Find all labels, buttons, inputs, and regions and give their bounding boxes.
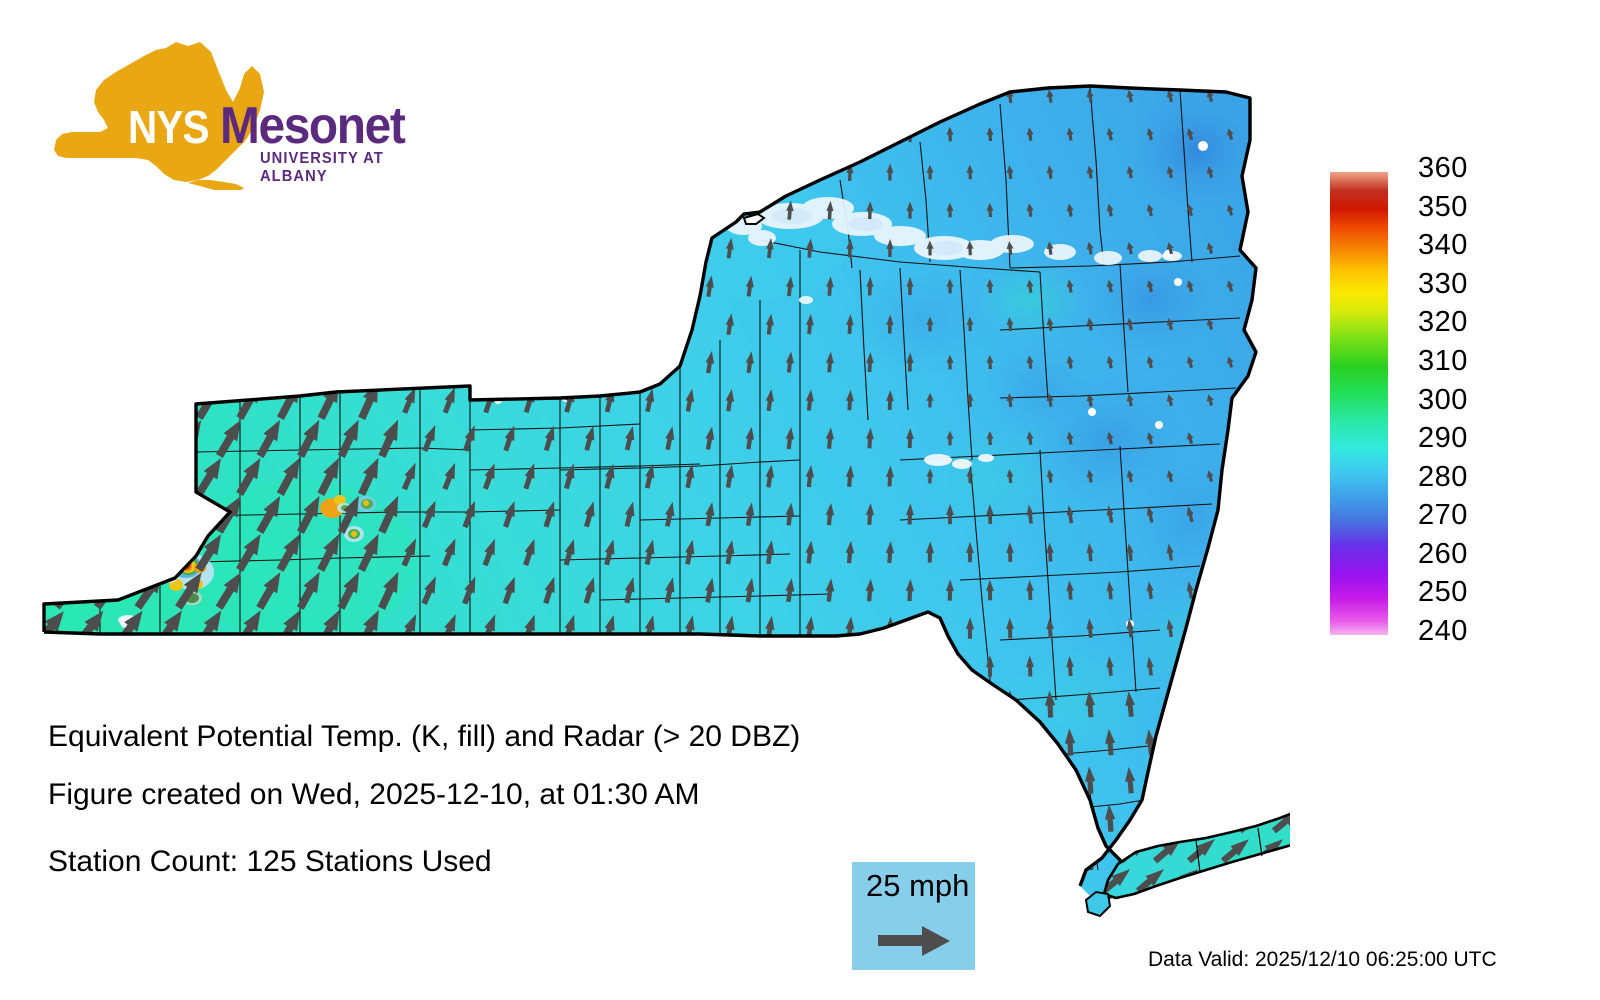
wind-arrow xyxy=(435,911,465,953)
wind-arrow xyxy=(644,85,655,106)
wind-arrow xyxy=(415,873,445,915)
wind-arrow xyxy=(720,913,741,950)
wind-arrow xyxy=(802,763,819,796)
wind-arrow xyxy=(924,689,936,718)
wind-arrow xyxy=(481,310,498,337)
wind-arrow xyxy=(1004,841,1015,871)
wind-arrow xyxy=(132,264,169,308)
wind-arrow xyxy=(1224,505,1235,522)
wind-arrow xyxy=(685,161,696,182)
wind-arrow xyxy=(422,121,439,147)
wind-arrow xyxy=(822,726,838,758)
wind-arrow xyxy=(557,912,583,952)
wind-arrow xyxy=(1223,805,1237,832)
wind-arrow xyxy=(461,272,479,299)
wind-arrow xyxy=(274,74,306,118)
wind-arrow xyxy=(1117,894,1151,926)
wind-arrow xyxy=(599,686,621,723)
wind-arrow xyxy=(51,188,90,233)
wind-arrow xyxy=(459,650,481,682)
wind-arrow xyxy=(500,650,521,681)
wind-arrow xyxy=(964,765,976,795)
wind-arrow xyxy=(702,652,717,680)
wind-arrow xyxy=(761,838,780,873)
wind-arrow xyxy=(109,909,151,956)
wind-arrow xyxy=(925,617,934,639)
wind-arrow xyxy=(786,125,794,144)
wind-arrow xyxy=(71,74,109,119)
wind-arrow xyxy=(396,684,425,724)
wind-arrow xyxy=(190,908,231,956)
wind-arrow xyxy=(824,653,836,678)
wind-arrow xyxy=(866,125,873,142)
wind-arrow xyxy=(598,912,623,952)
wind-arrow xyxy=(91,264,129,309)
wind-arrow xyxy=(31,74,70,119)
wind-arrow xyxy=(1024,728,1035,756)
wind-arrow xyxy=(477,685,503,724)
wind-arrow xyxy=(577,874,602,913)
wind-arrow xyxy=(1245,166,1255,179)
thetae-fill-layer xyxy=(0,0,1290,960)
wind-arrow xyxy=(537,874,563,914)
wind-arrow xyxy=(761,687,778,720)
wind-arrow xyxy=(30,150,69,195)
wind-arrow xyxy=(700,800,720,836)
wind-arrow xyxy=(355,150,385,193)
wind-arrow xyxy=(583,198,597,222)
wind-arrow xyxy=(581,651,599,681)
wind-arrow xyxy=(1144,804,1157,832)
wind-arrow xyxy=(274,302,307,346)
wind-arrow xyxy=(503,122,518,146)
wind-arrow xyxy=(28,909,72,955)
wind-arrow xyxy=(476,911,505,953)
wind-arrow xyxy=(193,74,227,118)
wind-arrow xyxy=(254,188,287,232)
wind-arrow xyxy=(1243,918,1257,946)
wind-arrow xyxy=(806,163,814,182)
wind-arrow xyxy=(1223,880,1237,908)
wind-arrow xyxy=(30,530,70,574)
wind-arrow xyxy=(1245,543,1255,560)
wind-arrow xyxy=(766,87,775,106)
wind-arrow xyxy=(314,302,345,345)
wind-arrow xyxy=(584,123,597,146)
colorbar-tick-250: 250 xyxy=(1418,576,1468,609)
wind-arrow xyxy=(172,264,207,308)
wind-arrow xyxy=(172,492,208,536)
wind-arrow xyxy=(821,877,838,911)
wind-arrow xyxy=(564,85,577,108)
wind-arrow xyxy=(131,416,168,460)
wind-arrow xyxy=(1124,917,1137,946)
wind-arrow xyxy=(846,87,853,104)
wind-arrow xyxy=(1005,766,1016,795)
wind-arrow xyxy=(883,764,897,795)
wind-arrow xyxy=(842,764,857,796)
wind-arrow xyxy=(253,264,286,308)
wind-arrow xyxy=(213,112,247,156)
wind-arrow xyxy=(638,913,661,952)
wind-arrow xyxy=(294,112,325,156)
wind-arrow xyxy=(71,302,109,347)
wind-speed-legend: 25 mph xyxy=(852,862,975,970)
wind-arrow xyxy=(173,112,208,156)
wind-arrow xyxy=(1245,242,1255,255)
wind-arrow xyxy=(522,311,538,338)
wind-arrow xyxy=(984,728,995,757)
wind-arrow xyxy=(375,189,404,232)
colorbar-tick-340: 340 xyxy=(1418,229,1468,262)
wind-arrow xyxy=(132,112,168,157)
wind-arrow xyxy=(1004,917,1016,948)
wind-arrow xyxy=(91,492,129,536)
weather-map xyxy=(0,0,1290,960)
colorbar-tick-280: 280 xyxy=(1418,461,1468,494)
wind-arrow xyxy=(1203,918,1217,946)
wind-arrow xyxy=(583,274,597,299)
wind-arrow xyxy=(30,378,70,422)
wind-arrow xyxy=(984,803,996,833)
wind-arrow xyxy=(523,160,538,185)
wind-arrow xyxy=(91,188,128,233)
wind-arrow xyxy=(765,162,774,182)
wind-arrow xyxy=(623,349,637,374)
wind-arrow xyxy=(375,265,405,308)
wind-arrow xyxy=(152,378,188,422)
wind-arrow xyxy=(903,727,916,757)
wind-arrow xyxy=(1185,656,1195,675)
wind-arrow xyxy=(462,121,478,146)
wind-arrow xyxy=(502,273,518,299)
wind-arrow xyxy=(784,653,797,679)
wind-arrow xyxy=(621,651,638,680)
wind-arrow xyxy=(193,226,228,270)
wind-arrow xyxy=(801,914,819,949)
wind-arrow xyxy=(1185,774,1219,806)
wind-arrow xyxy=(563,160,577,184)
wind-arrow xyxy=(91,416,129,460)
wind-arrow xyxy=(1253,894,1287,926)
colorbar-tick-300: 300 xyxy=(1418,384,1468,417)
wind-arrow xyxy=(30,302,70,347)
wind-arrow xyxy=(233,302,267,346)
wind-arrow xyxy=(883,689,896,719)
wind-arrow xyxy=(355,74,384,117)
wind-arrow xyxy=(315,150,346,194)
wind-arrow xyxy=(801,839,818,873)
wind-arrow xyxy=(664,274,676,297)
wind-arrow xyxy=(50,492,90,536)
colorbar-tick-330: 330 xyxy=(1418,268,1468,301)
wind-arrow xyxy=(862,802,877,834)
wind-arrow xyxy=(462,197,479,223)
wind-arrow xyxy=(314,226,345,269)
wind-arrow xyxy=(172,188,207,232)
wind-arrow xyxy=(760,914,779,950)
wind-arrow xyxy=(131,492,168,536)
wind-arrow xyxy=(70,530,109,574)
wind-arrow xyxy=(1163,918,1176,947)
wind-arrow xyxy=(1044,766,1056,794)
wind-arrow xyxy=(71,226,109,271)
wind-arrow xyxy=(1243,767,1257,793)
wind-arrow xyxy=(662,652,678,680)
wind-arrow xyxy=(1203,691,1216,717)
wind-arrow xyxy=(1024,879,1035,909)
wind-arrow xyxy=(30,454,70,498)
wind-arrow xyxy=(1024,804,1035,833)
wind-arrow xyxy=(442,83,458,108)
wind-arrow xyxy=(966,89,974,104)
wind-arrow xyxy=(582,349,597,375)
wind-arrow xyxy=(233,150,266,194)
wind-arrow xyxy=(741,800,760,835)
wind-arrow xyxy=(886,88,893,104)
wind-arrow xyxy=(781,876,799,911)
wind-arrow xyxy=(172,644,209,688)
wind-arrow xyxy=(822,801,838,834)
wind-arrow xyxy=(394,911,426,954)
wind-arrow xyxy=(192,302,227,346)
wind-arrow xyxy=(71,454,110,498)
wind-arrow xyxy=(91,340,129,384)
wind-arrow xyxy=(501,348,518,375)
wind-arrow xyxy=(294,264,326,308)
wind-arrow xyxy=(743,653,757,680)
wind-arrow xyxy=(71,150,109,195)
wind-arrow xyxy=(540,651,560,682)
wind-arrow xyxy=(335,188,365,231)
wind-arrow xyxy=(1185,894,1219,926)
wind-arrow xyxy=(294,340,326,384)
map-title-caption: Equivalent Potential Temp. (K, fill) and… xyxy=(48,720,800,754)
wind-arrow xyxy=(271,908,310,956)
wind-arrow xyxy=(50,340,89,385)
colorbar-tick-360: 360 xyxy=(1418,152,1468,185)
colorbar xyxy=(1330,172,1388,635)
wind-arrow xyxy=(253,644,288,688)
wind-arrow xyxy=(420,348,439,377)
wind-arrow xyxy=(1084,917,1096,947)
wind-arrow xyxy=(557,836,582,875)
wind-arrow xyxy=(745,124,754,144)
colorbar-gradient xyxy=(1330,172,1388,635)
wind-arrow xyxy=(442,159,459,185)
wind-arrow xyxy=(1205,619,1215,637)
wind-arrow xyxy=(684,237,696,259)
wind-arrow xyxy=(132,188,168,233)
colorbar-tick-350: 350 xyxy=(1418,191,1468,224)
wind-arrow xyxy=(705,124,715,145)
wind-arrow xyxy=(644,236,657,259)
wind-arrow xyxy=(1151,894,1185,926)
wind-arrow xyxy=(293,644,326,687)
wind-arrow xyxy=(152,150,188,195)
wind-arrow xyxy=(517,836,544,876)
wind-arrow xyxy=(1183,804,1196,831)
wind-arrow xyxy=(274,226,306,270)
wind-arrow xyxy=(721,687,739,721)
wind-arrow xyxy=(418,650,441,683)
wind-arrow xyxy=(483,84,498,108)
wind-arrow xyxy=(212,644,248,688)
wind-arrow xyxy=(1044,841,1056,870)
wind-arrow xyxy=(640,686,661,722)
wind-arrow xyxy=(518,685,543,723)
wind-arrow xyxy=(863,726,877,757)
wind-arrow xyxy=(152,454,189,498)
wind-arrow xyxy=(664,199,676,221)
map-canvas xyxy=(0,0,1290,960)
wind-arrow xyxy=(563,236,577,261)
wind-arrow xyxy=(945,655,954,677)
wind-arrow xyxy=(923,765,936,796)
wind-arrow xyxy=(826,125,834,143)
wind-arrow xyxy=(111,226,148,271)
wind-arrow xyxy=(51,112,89,157)
wind-arrow xyxy=(781,801,799,835)
wind-arrow xyxy=(639,837,662,875)
wind-arrow xyxy=(624,123,636,145)
wind-arrow xyxy=(558,685,581,722)
wind-arrow xyxy=(193,150,227,194)
wind-arrow xyxy=(1064,879,1076,908)
wind-arrow xyxy=(482,235,499,261)
wind-arrow xyxy=(334,340,365,383)
wind-arrow xyxy=(311,908,349,957)
wind-arrow xyxy=(375,645,406,688)
wind-arrow xyxy=(213,188,247,232)
wind-arrow xyxy=(230,908,270,956)
wind-arrow xyxy=(315,74,346,118)
wind-arrow xyxy=(111,302,148,346)
wind-arrow xyxy=(132,340,169,384)
wind-arrow xyxy=(865,654,876,678)
wind-arrow xyxy=(1270,864,1290,896)
colorbar-tick-320: 320 xyxy=(1418,306,1468,339)
wind-arrow xyxy=(1164,766,1177,793)
wind-arrow xyxy=(542,273,557,299)
wind-arrow xyxy=(1225,581,1235,599)
wind-arrow xyxy=(659,875,681,913)
wind-arrow xyxy=(725,86,734,106)
wind-arrow xyxy=(685,86,695,106)
wind-arrow xyxy=(112,74,149,119)
wind-arrow xyxy=(1245,470,1255,483)
wind-arrow xyxy=(461,348,479,376)
wind-arrow xyxy=(172,340,208,384)
wind-arrow xyxy=(598,837,622,876)
wind-arrow xyxy=(400,310,420,339)
wind-arrow xyxy=(725,162,735,183)
wind-arrow xyxy=(618,875,642,914)
wind-arrow xyxy=(1168,804,1202,836)
colorbar-tick-290: 290 xyxy=(1418,422,1468,455)
wind-arrow xyxy=(71,378,110,422)
wind-arrow xyxy=(50,416,89,460)
wind-arrow xyxy=(1064,804,1076,833)
figure-created-caption: Figure created on Wed, 2025-12-10, at 01… xyxy=(48,778,700,812)
wind-arrow xyxy=(643,312,656,336)
wind-arrow xyxy=(233,74,266,118)
wind-arrow xyxy=(334,644,366,687)
wind-arrow xyxy=(441,310,459,338)
wind-arrow xyxy=(720,838,740,874)
wind-arrow xyxy=(1253,774,1287,806)
wind-arrow xyxy=(111,378,149,422)
wind-arrow xyxy=(112,150,149,195)
wind-arrow xyxy=(1287,774,1290,806)
wind-arrow xyxy=(335,264,366,307)
wind-arrow xyxy=(1243,691,1256,716)
colorbar-tick-240: 240 xyxy=(1418,615,1468,648)
wind-arrow xyxy=(1225,657,1235,676)
wind-arrow xyxy=(401,159,419,186)
wind-arrow xyxy=(680,687,700,722)
station-count-caption: Station Count: 125 Stations Used xyxy=(48,845,492,879)
wind-arrow xyxy=(843,688,858,719)
wind-arrow xyxy=(375,341,405,384)
wind-arrow xyxy=(51,264,90,309)
wind-arrow xyxy=(213,264,247,308)
wind-arrow xyxy=(436,684,463,723)
wind-arrow xyxy=(68,909,111,955)
colorbar-tick-270: 270 xyxy=(1418,499,1468,532)
wind-arrow xyxy=(421,197,439,224)
wind-arrow xyxy=(1236,864,1270,896)
wind-arrow xyxy=(806,87,814,105)
wind-arrow xyxy=(111,530,149,574)
wind-arrow xyxy=(644,161,656,183)
wind-arrow xyxy=(761,763,779,797)
wind-arrow xyxy=(679,838,700,875)
wind-arrow xyxy=(131,644,169,688)
wind-arrow xyxy=(699,875,720,912)
wind-arrow xyxy=(149,908,191,955)
wind-arrow xyxy=(1219,774,1253,806)
wind-arrow xyxy=(351,908,388,957)
wind-arrow xyxy=(274,150,306,194)
wind-arrow xyxy=(50,644,90,688)
wind-arrow xyxy=(944,803,957,834)
wind-arrow xyxy=(213,340,248,384)
wind-arrow xyxy=(355,226,385,269)
wind-arrow-icon xyxy=(878,924,952,958)
wind-arrow xyxy=(705,199,716,221)
wind-arrow xyxy=(152,226,188,270)
wind-arrow xyxy=(152,302,188,346)
wind-arrow xyxy=(1183,729,1196,755)
wind-arrow xyxy=(903,802,917,834)
wind-arrow xyxy=(233,226,267,270)
wind-arrow xyxy=(421,272,440,300)
wind-arrow xyxy=(623,274,636,298)
wind-arrow xyxy=(1183,880,1197,908)
wind-arrow xyxy=(679,913,701,951)
wind-arrow xyxy=(624,198,637,221)
wind-arrow xyxy=(294,188,326,232)
wind-arrow xyxy=(905,654,915,677)
wind-arrow xyxy=(502,197,518,222)
wind-arrow xyxy=(1134,804,1168,836)
wind-arrow xyxy=(604,160,617,183)
wind-arrow xyxy=(253,340,286,384)
wind-arrow xyxy=(523,84,537,108)
wind-arrow xyxy=(720,762,739,797)
wind-arrow xyxy=(984,879,996,910)
